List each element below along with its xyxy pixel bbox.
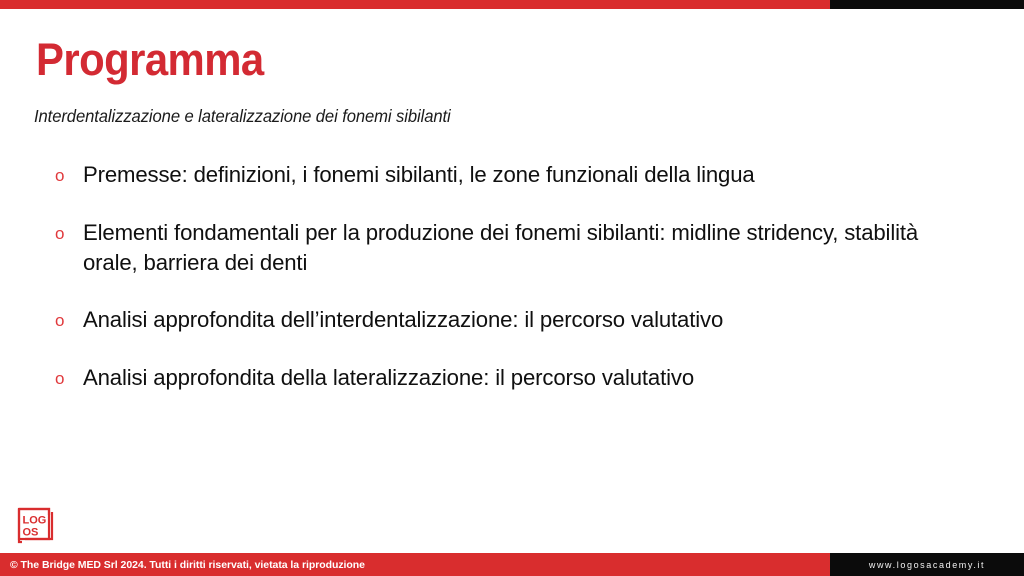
bullet-circle-icon: o [52,363,83,394]
list-item-label: Analisi approfondita della lateralizzazi… [83,363,969,393]
list-item: o Elementi fondamentali per la produzion… [52,218,982,278]
top-accent-bar-red-segment [0,0,830,9]
footer-bar: © The Bridge MED Srl 2024. Tutti i dirit… [0,553,1024,576]
footer-website-text: www.logosacademy.it [869,560,985,570]
list-item-label: Elementi fondamentali per la produzione … [83,218,969,278]
slide-canvas: Programma Interdentalizzazione e lateral… [0,0,1024,576]
footer-copyright-section: © The Bridge MED Srl 2024. Tutti i dirit… [0,553,830,576]
footer-copyright-text: © The Bridge MED Srl 2024. Tutti i dirit… [0,559,365,571]
top-accent-bar-black-segment [830,0,1024,9]
list-item: o Premesse: definizioni, i fonemi sibila… [52,160,982,191]
top-accent-bar [0,0,1024,9]
page-title: Programma [36,36,264,83]
page-subtitle: Interdentalizzazione e lateralizzazione … [34,106,451,127]
list-item-label: Analisi approfondita dell’interdentalizz… [83,305,969,335]
bullet-circle-icon: o [52,305,83,336]
list-item: o Analisi approfondita della lateralizza… [52,363,982,394]
footer-website-section: www.logosacademy.it [830,553,1024,576]
logo-text-line2: OS [23,527,39,539]
logos-logo-icon: LOG OS [16,506,56,544]
logo-text-line1: LOG [23,515,47,527]
agenda-list: o Premesse: definizioni, i fonemi sibila… [52,160,982,394]
list-item: o Analisi approfondita dell’interdentali… [52,305,982,336]
bullet-circle-icon: o [52,218,83,249]
list-item-label: Premesse: definizioni, i fonemi sibilant… [83,160,969,190]
bullet-circle-icon: o [52,160,83,191]
